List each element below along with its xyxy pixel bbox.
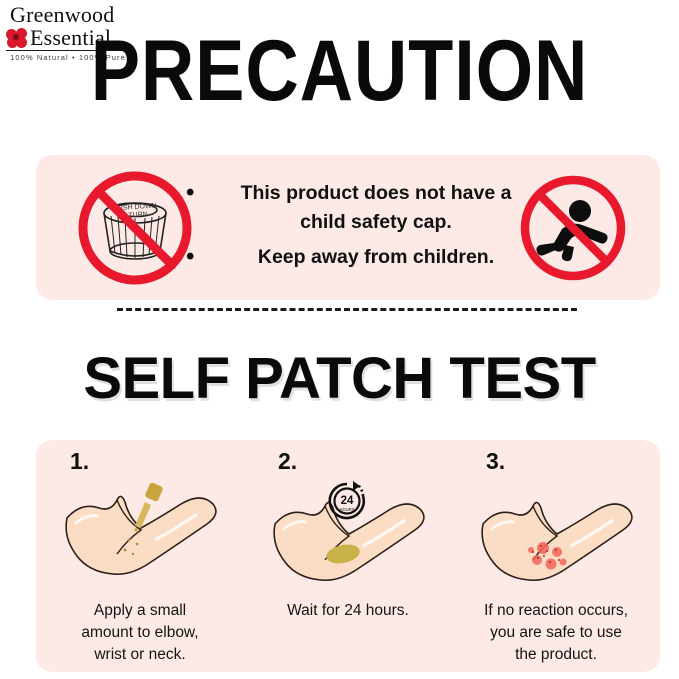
patch-step-1-caption: Apply a small amount to elbow, wrist or … [44, 600, 236, 666]
caption-line: the product. [515, 646, 597, 663]
elbow-with-24-hour-timer-icon: 24 HOURS [263, 478, 433, 583]
self-patch-test-panel: 1. [36, 440, 660, 672]
patch-step-2-number: 2. [278, 448, 297, 475]
caption-line: amount to elbow, [81, 624, 198, 641]
elbow-with-rash-icon [471, 478, 641, 583]
precaution-text-block: • This product does not have a child saf… [186, 179, 536, 272]
caption-line: Apply a small [94, 602, 186, 619]
patch-step-2-caption: Wait for 24 hours. [252, 600, 444, 622]
no-children-icon [518, 173, 628, 283]
precaution-item-1-line-a: This product does not have a [241, 182, 512, 204]
timer-value: 24 [341, 495, 354, 507]
patch-step-1-number: 1. [70, 448, 89, 475]
timer-unit: HOURS [339, 507, 354, 512]
precaution-item-1: • This product does not have a child saf… [186, 179, 536, 237]
precaution-panel: PUSH DOWN & TURN • This product does not… [36, 155, 660, 300]
precaution-item-2: • Keep away from children. [186, 243, 536, 272]
precaution-item-1-line-b: child safety cap. [300, 211, 452, 233]
caption-line: If no reaction occurs, [484, 602, 628, 619]
bullet-icon: • [186, 243, 216, 270]
precaution-item-1-text: This product does not have a child safet… [216, 179, 536, 237]
precaution-infographic: Greenwood Essential 100% Natural • 100% … [0, 0, 679, 679]
patch-step-2: 2. 24 HOURS [244, 440, 452, 672]
page-title-precaution: PRECAUTION [48, 28, 632, 114]
page-title-self-patch-test: SELF PATCH TEST [0, 348, 679, 410]
section-divider [117, 308, 577, 311]
caption-line: wrist or neck. [94, 646, 185, 663]
caption-line: you are safe to use [490, 624, 622, 641]
no-child-safety-cap-icon: PUSH DOWN & TURN [76, 169, 194, 287]
patch-step-3-number: 3. [486, 448, 505, 475]
patch-step-1: 1. [36, 440, 244, 672]
bullet-icon: • [186, 179, 216, 206]
patch-step-3: 3. [452, 440, 660, 672]
patch-step-3-caption: If no reaction occurs, you are safe to u… [460, 600, 652, 666]
precaution-item-2-text: Keep away from children. [216, 243, 536, 272]
caption-line: Wait for 24 hours. [287, 602, 409, 619]
flower-icon [6, 28, 28, 48]
elbow-with-dropper-icon [55, 478, 225, 583]
